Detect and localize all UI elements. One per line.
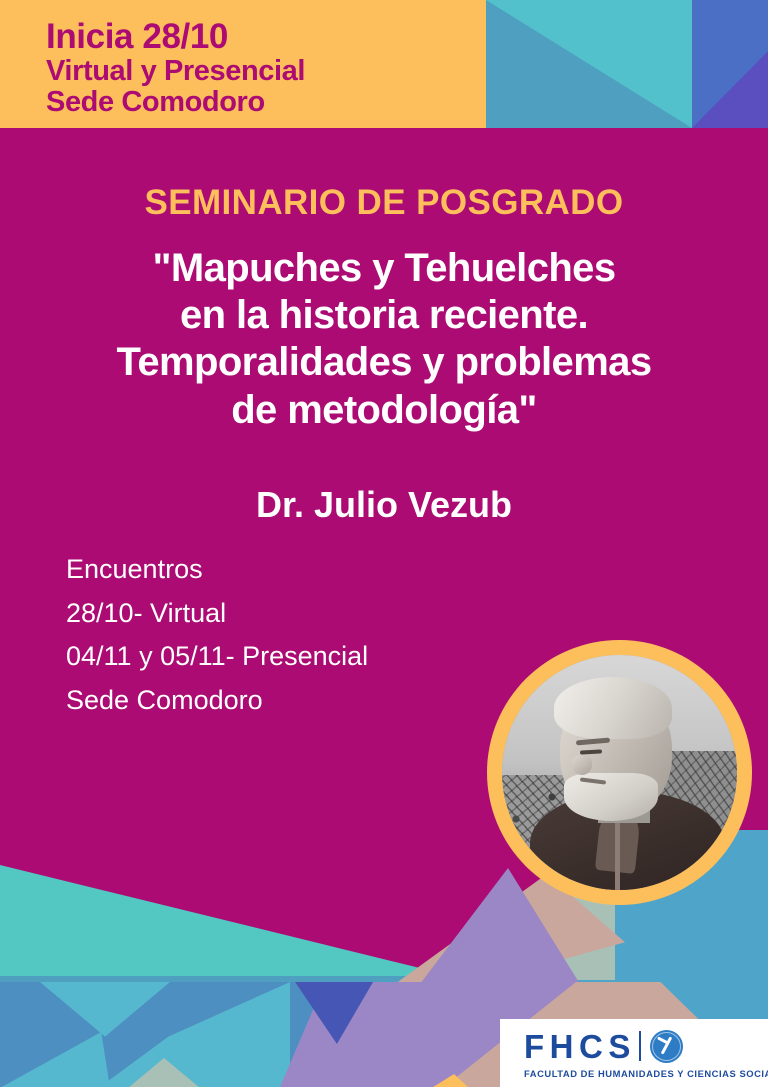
title-line: "Mapuches y Tehuelches — [30, 245, 738, 292]
photo-nose — [572, 755, 592, 775]
photo-hair — [554, 677, 672, 739]
logo-divider — [639, 1031, 641, 1061]
fhcs-subtitle: FACULTAD DE HUMANIDADES Y CIENCIAS SOCIA… — [524, 1068, 754, 1079]
fhcs-logo-top-row: FHCS — [524, 1028, 754, 1064]
header-geometric-pattern — [486, 0, 768, 128]
fhcs-logo-inner: FHCS FACULTAD DE HUMANIDADES Y CIENCIAS … — [524, 1028, 754, 1079]
header-band: Inicia 28/10 Virtual y Presencial Sede C… — [0, 0, 768, 128]
header-venue: Sede Comodoro — [46, 87, 305, 118]
schedule-details: Encuentros 28/10- Virtual 04/11 y 05/11-… — [66, 548, 496, 723]
speaker-name: Dr. Julio Vezub — [0, 484, 768, 526]
unp-seal-icon — [650, 1030, 683, 1063]
header-start-date: Inicia 28/10 — [46, 18, 305, 56]
photo-zipper — [615, 818, 620, 890]
detail-line-sede: Sede Comodoro — [66, 679, 496, 723]
detail-line-presencial: 04/11 y 05/11- Presencial — [66, 635, 496, 679]
kicker-label: SEMINARIO DE POSGRADO — [0, 183, 768, 223]
detail-line-virtual: 28/10- Virtual — [66, 592, 496, 636]
title-line: Temporalidades y problemas — [30, 339, 738, 386]
photo-beard — [564, 773, 658, 821]
seminar-title: "Mapuches y Tehuelches en la historia re… — [30, 245, 738, 434]
fhcs-acronym: FHCS — [524, 1030, 636, 1063]
poster-root: Inicia 28/10 Virtual y Presencial Sede C… — [0, 0, 768, 1087]
title-line: en la historia reciente. — [30, 292, 738, 339]
detail-line-encuentros: Encuentros — [66, 548, 496, 592]
speaker-photo — [487, 640, 752, 905]
photo-image — [502, 655, 737, 890]
header-modality: Virtual y Presencial — [46, 56, 305, 87]
title-line: de metodología" — [30, 387, 738, 434]
fhcs-logo-box: FHCS FACULTAD DE HUMANIDADES Y CIENCIAS … — [500, 1019, 768, 1087]
header-text-block: Inicia 28/10 Virtual y Presencial Sede C… — [46, 18, 305, 118]
